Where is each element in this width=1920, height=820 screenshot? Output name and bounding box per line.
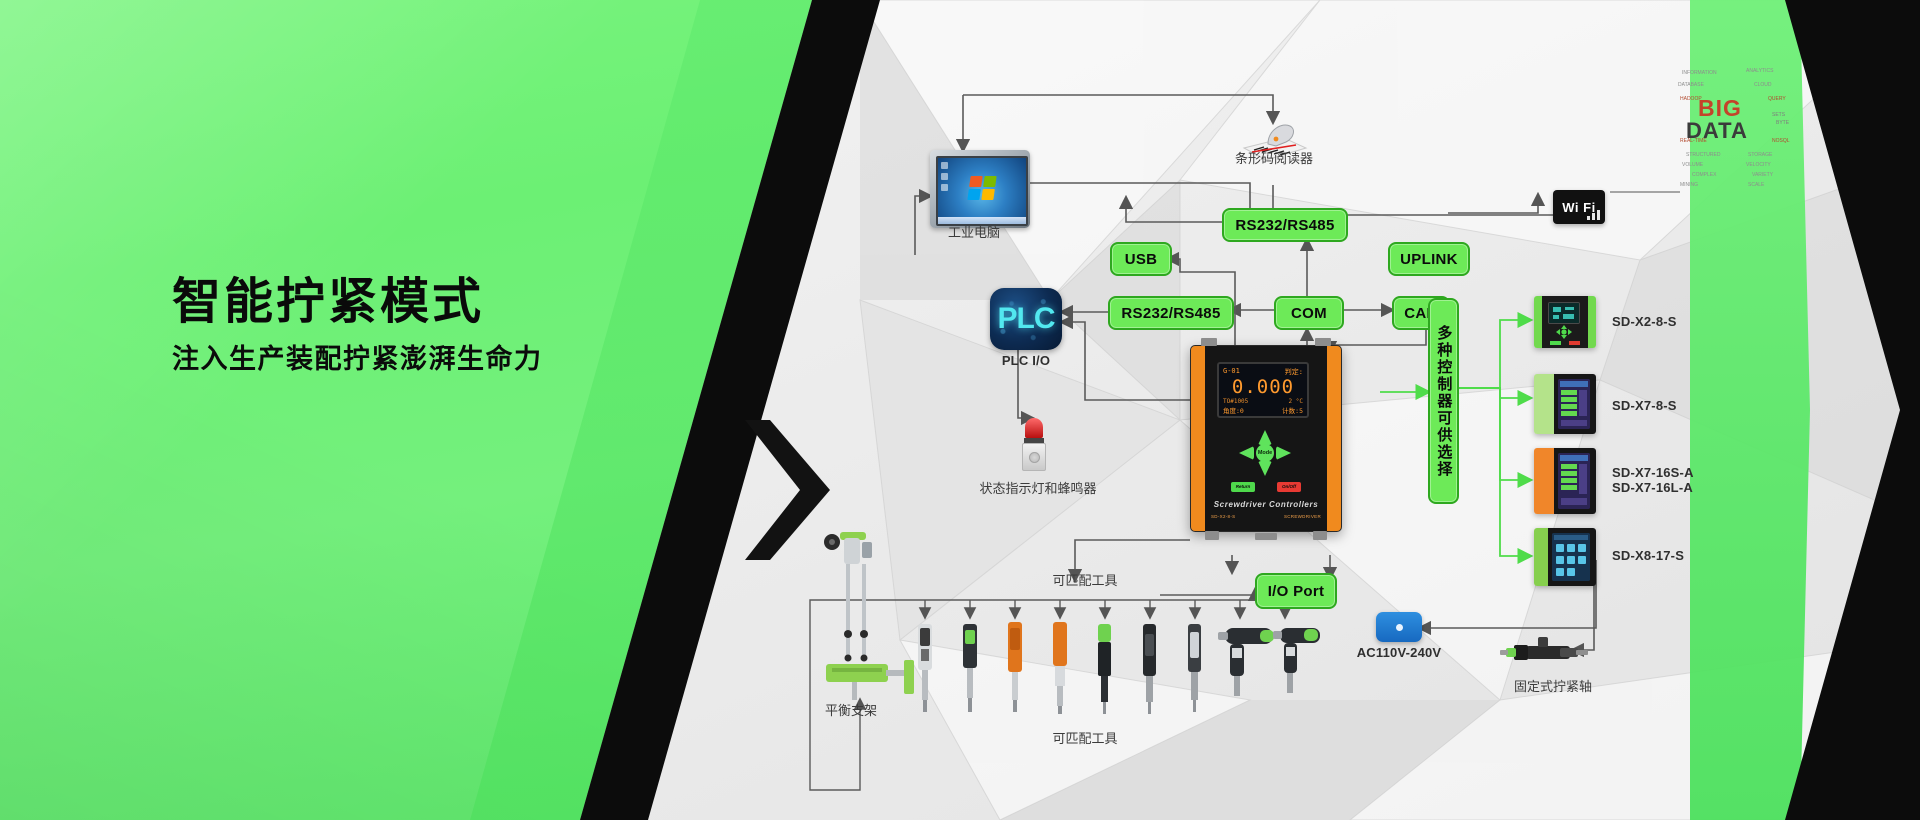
- caption-status-light: 状态指示灯和蜂鸣器: [963, 478, 1113, 497]
- protocol-box-rs232-rs485-top[interactable]: RS232/RS485: [1222, 208, 1348, 242]
- wifi-signal-icon: [1587, 210, 1600, 220]
- controller-unit-sd-x7-8-s[interactable]: [1534, 374, 1596, 434]
- svg-text:VELOCITY: VELOCITY: [1746, 162, 1771, 168]
- controller-top-ports: [1201, 338, 1331, 347]
- label-sd-x7-8-s: SD-X7-8-S: [1612, 398, 1677, 413]
- dpad-left-icon[interactable]: [1239, 446, 1254, 460]
- banner-stage: 智能拧紧模式 注入生产装配拧紧澎湃生命力: [0, 0, 1920, 820]
- caption-fixed-spindle: 固定式拧紧轴: [1498, 676, 1608, 695]
- svg-text:STRUCTURED: STRUCTURED: [1686, 152, 1721, 158]
- big-data-wordcloud: INFORMATIONANALYTICS DATABASECLOUD STRUC…: [1676, 60, 1816, 190]
- svg-text:NOSQL: NOSQL: [1772, 138, 1790, 144]
- industrial-pc-monitor[interactable]: [930, 150, 1030, 228]
- controller-model-left: SD-X2-8-S: [1211, 514, 1235, 519]
- balance-stand[interactable]: [786, 522, 916, 700]
- protocol-box-rs232-rs485-left[interactable]: RS232/RS485: [1108, 296, 1234, 330]
- controller-dpad[interactable]: Mode: [1239, 430, 1291, 476]
- note-multiple-controllers: 多种控制器可供选择: [1428, 298, 1459, 504]
- plc-io-icon[interactable]: PLC: [990, 288, 1062, 350]
- main-screwdriver-controller[interactable]: G-01 判定: 0.000 TO#1005 2 °C 角度:0 计数:5 Mo…: [1190, 345, 1342, 532]
- controller-brand-text: Screwdriver Controllers: [1191, 500, 1341, 509]
- svg-text:VARIETY: VARIETY: [1752, 172, 1774, 178]
- dpad-right-icon[interactable]: [1276, 446, 1291, 460]
- svg-text:SCALE: SCALE: [1748, 182, 1765, 188]
- headline-block: 智能拧紧模式 注入生产装配拧紧澎湃生命力: [172, 276, 792, 375]
- svg-text:VOLUME: VOLUME: [1682, 162, 1704, 168]
- windows-logo-icon: [967, 176, 996, 200]
- caption-balancer: 平衡支架: [796, 700, 906, 719]
- dpad-down-icon[interactable]: [1258, 461, 1272, 476]
- svg-text:MINING: MINING: [1680, 182, 1698, 188]
- tool-7: [1188, 624, 1201, 712]
- plc-icon-text: PLC: [998, 302, 1055, 336]
- svg-text:SETS: SETS: [1772, 112, 1786, 118]
- label-sd-x7-16s-a: SD-X7-16S-A: [1612, 465, 1694, 480]
- controller-button-row[interactable]: Return On/Off: [1231, 482, 1301, 492]
- protocol-box-uplink[interactable]: UPLINK: [1388, 242, 1470, 276]
- protocol-box-usb[interactable]: USB: [1110, 242, 1172, 276]
- power-button[interactable]: On/Off: [1277, 482, 1301, 492]
- controller-unit-sd-x8-17-s[interactable]: [1534, 528, 1596, 586]
- monitor-screen: [936, 156, 1028, 226]
- tool-9: [1273, 628, 1320, 693]
- tool-8: [1218, 628, 1274, 696]
- controller-model-strip: SD-X2-8-S SCREWDRIVER: [1211, 514, 1321, 519]
- controller-unit-sd-x2-8-s[interactable]: [1534, 296, 1596, 348]
- lcd-tool-id: TO#1005: [1223, 398, 1248, 405]
- tool-2: [963, 624, 977, 712]
- stacklight-dome-icon: [1025, 418, 1043, 438]
- caption-plc-io: PLC I/O: [980, 353, 1072, 368]
- svg-text:DATABASE: DATABASE: [1678, 82, 1705, 88]
- svg-text:ANALYTICS: ANALYTICS: [1746, 68, 1774, 74]
- return-button[interactable]: Return: [1231, 482, 1255, 492]
- desktop-icons: [941, 162, 950, 195]
- lcd-temperature: 2 °C: [1289, 398, 1303, 405]
- wifi-node[interactable]: Wi Fi: [1553, 190, 1605, 224]
- tool-row: [900, 618, 1320, 718]
- tool-4: [1053, 622, 1067, 714]
- lcd-angle: 角度:0: [1223, 405, 1244, 415]
- controller-bottom-ports: [1205, 530, 1327, 540]
- tool-5: [1098, 624, 1111, 714]
- caption-industrial-pc: 工业电脑: [930, 222, 1018, 241]
- caption-barcode-reader: 条形码阅读器: [1214, 148, 1334, 167]
- fixed-tightening-spindle[interactable]: [1500, 632, 1592, 672]
- controller-lcd-display: G-01 判定: 0.000 TO#1005 2 °C 角度:0 计数:5: [1217, 362, 1309, 418]
- protocol-box-com[interactable]: COM: [1274, 296, 1344, 330]
- dpad-up-icon[interactable]: [1258, 430, 1272, 445]
- svg-text:COMPLEX: COMPLEX: [1692, 172, 1717, 178]
- caption-matching-tools-top: 可匹配工具: [1025, 570, 1145, 589]
- lcd-torque-value: 0.000: [1223, 377, 1303, 398]
- svg-text:DATA: DATA: [1686, 118, 1748, 143]
- ac-power-adapter[interactable]: [1376, 612, 1422, 642]
- label-sd-x8-17-s: SD-X8-17-S: [1612, 548, 1684, 563]
- svg-text:QUERY: QUERY: [1768, 96, 1786, 102]
- tool-1: [918, 624, 932, 712]
- page-subtitle: 注入生产装配拧紧澎湃生命力: [172, 343, 792, 375]
- label-sd-x2-8-s: SD-X2-8-S: [1612, 314, 1677, 329]
- tool-6: [1143, 624, 1156, 714]
- status-light-buzzer[interactable]: [1022, 418, 1046, 474]
- caption-matching-tools-bottom: 可匹配工具: [1025, 728, 1145, 747]
- svg-text:CLOUD: CLOUD: [1754, 82, 1772, 88]
- stacklight-buzzer-base: [1022, 443, 1046, 471]
- svg-text:STORAGE: STORAGE: [1748, 152, 1773, 158]
- svg-text:BYTE: BYTE: [1776, 120, 1790, 126]
- label-sd-x7-16l-a: SD-X7-16L-A: [1612, 480, 1693, 495]
- tool-3: [1008, 622, 1022, 712]
- svg-text:INFORMATION: INFORMATION: [1682, 70, 1717, 76]
- lcd-count: 计数:5: [1282, 405, 1303, 415]
- dpad-mode-button[interactable]: Mode: [1256, 444, 1274, 462]
- controller-unit-sd-x7-16-a[interactable]: [1534, 448, 1596, 514]
- controller-model-right: SCREWDRIVER: [1284, 514, 1321, 519]
- page-title: 智能拧紧模式: [172, 276, 792, 329]
- protocol-box-io-port[interactable]: I/O Port: [1255, 573, 1337, 609]
- caption-power: AC110V-240V: [1346, 645, 1452, 660]
